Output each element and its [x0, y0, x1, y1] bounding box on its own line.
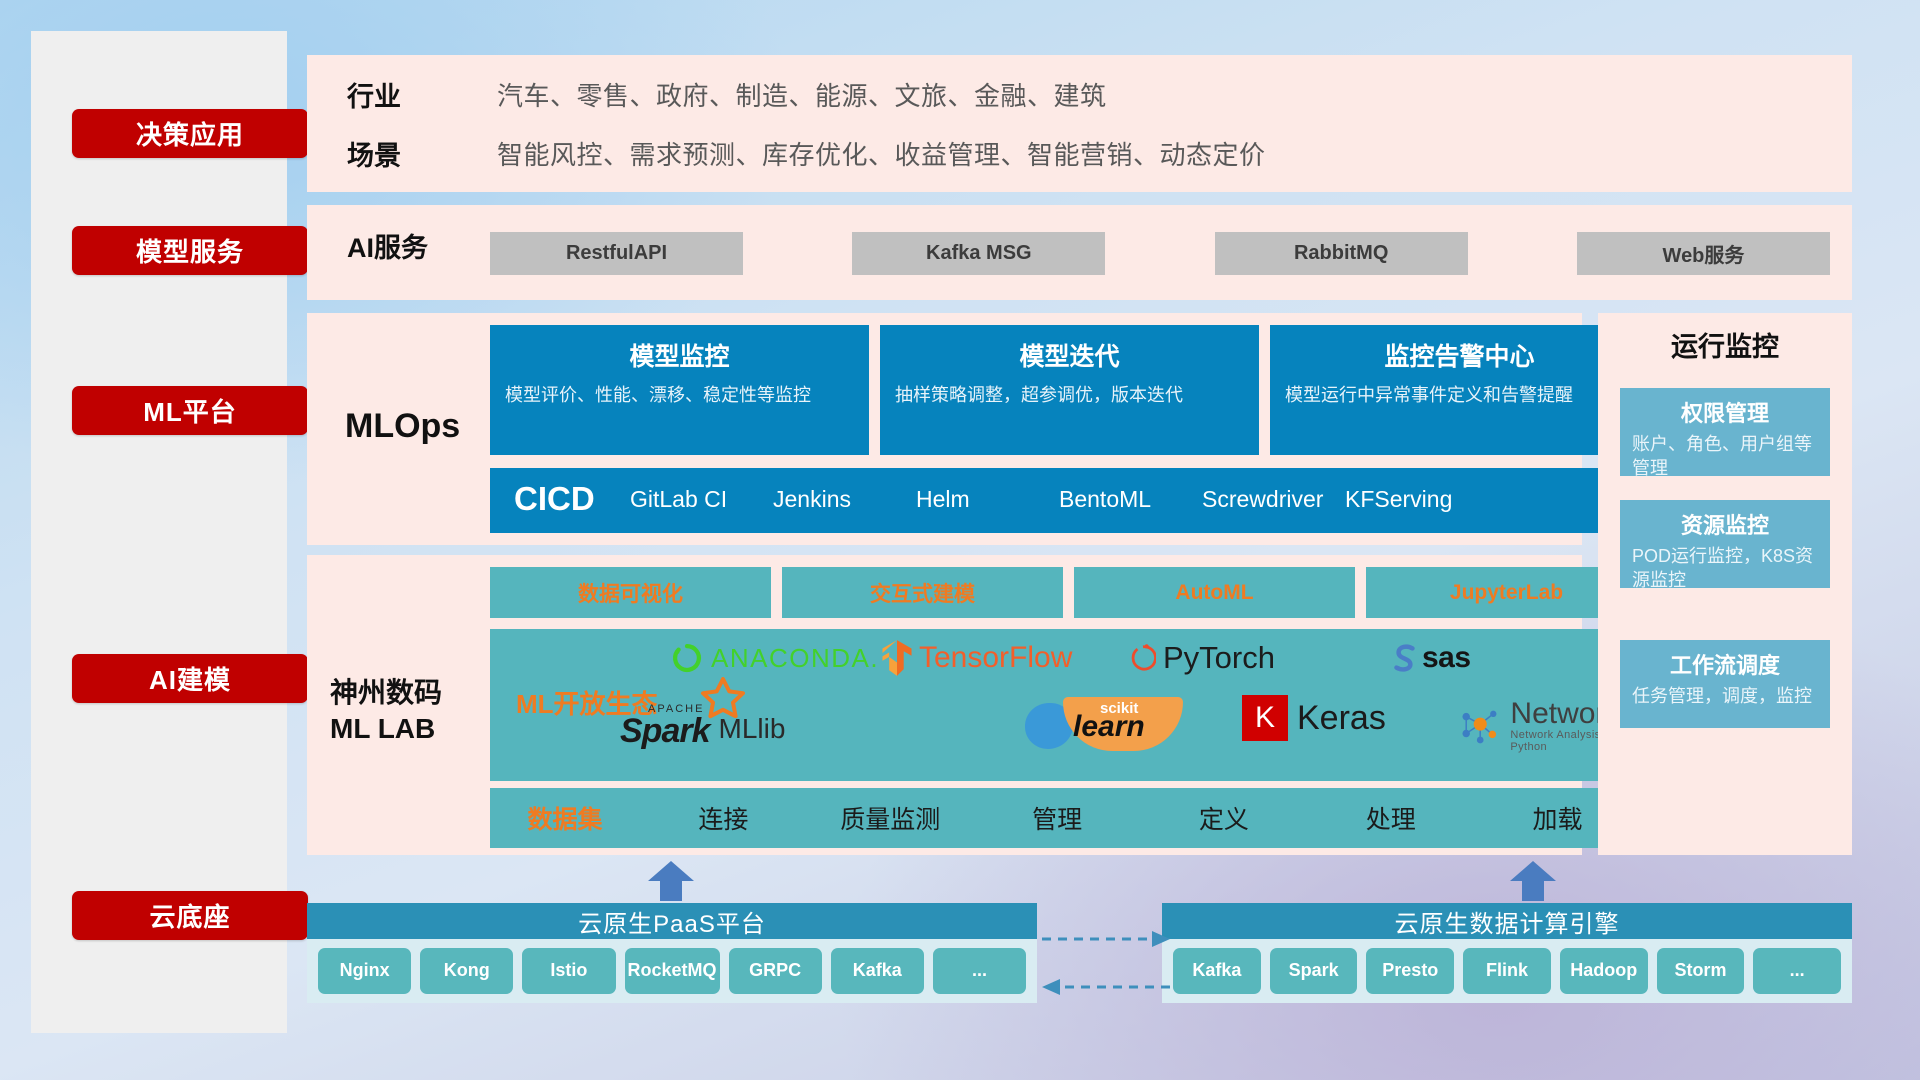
ai-service-label: AI服务: [347, 232, 428, 266]
layer-label-cloud-base[interactable]: 云底座: [72, 891, 308, 940]
pytorch-mark-icon: [1130, 642, 1156, 674]
tensorflow-mark-icon: [880, 639, 914, 677]
card-title: 权限管理: [1632, 396, 1818, 428]
ml-lab-chip-automl[interactable]: AutoML: [1074, 567, 1355, 618]
ai-service-chip-list: RestfulAPI Kafka MSG RabbitMQ Web服务: [490, 232, 1830, 275]
architecture-diagram: 决策应用 模型服务 ML平台 AI建模 云底座 行业 汽车、零售、政府、制造、能…: [0, 0, 1920, 1080]
anaconda-wordmark: ANACONDA.: [711, 643, 879, 674]
dataset-item-connect[interactable]: 连接: [640, 800, 807, 836]
engine-chip-spark[interactable]: Spark: [1270, 948, 1358, 994]
dataset-item-manage[interactable]: 管理: [974, 800, 1141, 836]
ml-lab-label: 神州数码 ML LAB: [330, 675, 442, 747]
card-title: 模型迭代: [895, 337, 1244, 373]
ml-lab-label-line1: 神州数码: [330, 675, 442, 711]
cicd-item-kfserving[interactable]: KFServing: [1345, 468, 1488, 513]
anaconda-mark-icon: [670, 641, 704, 675]
card-title: 监控告警中心: [1285, 337, 1634, 373]
mlops-card-model-iteration[interactable]: 模型迭代 抽样策略调整，超参调优，版本迭代: [880, 325, 1259, 455]
ml-lab-label-line2: ML LAB: [330, 711, 442, 747]
cicd-item-bentoml[interactable]: BentoML: [1059, 468, 1202, 513]
mlops-card-alert-center[interactable]: 监控告警中心 模型运行中异常事件定义和告警提醒: [1270, 325, 1649, 455]
paas-chip-kafka[interactable]: Kafka: [831, 948, 924, 994]
cicd-item-helm[interactable]: Helm: [916, 468, 1059, 513]
anaconda-logo: ANACONDA.: [670, 641, 879, 675]
up-arrow-data-engine-icon: [1510, 861, 1556, 901]
ai-service-chip-web[interactable]: Web服务: [1577, 232, 1830, 275]
sas-wordmark: sas: [1422, 641, 1471, 675]
paas-chip-nginx[interactable]: Nginx: [318, 948, 411, 994]
dataset-item-define[interactable]: 定义: [1140, 800, 1307, 836]
cloud-paas-title: 云原生PaaS平台: [307, 903, 1037, 939]
keras-mark-icon: K: [1242, 695, 1288, 741]
spark-star-icon: [698, 677, 748, 719]
cloud-data-engine-chip-list: Kafka Spark Presto Flink Hadoop Storm ..…: [1162, 939, 1852, 1003]
runtime-monitoring-title: 运行监控: [1598, 325, 1852, 364]
industry-label: 行业: [347, 75, 497, 114]
dataset-label: 数据集: [490, 800, 640, 836]
up-arrow-paas-icon: [648, 861, 694, 901]
sas-logo: sas: [1390, 641, 1471, 675]
cicd-item-gitlab-ci[interactable]: GitLab CI: [630, 468, 773, 513]
engine-chip-presto[interactable]: Presto: [1366, 948, 1454, 994]
card-title: 模型监控: [505, 337, 854, 373]
paas-chip-rocketmq[interactable]: RocketMQ: [625, 948, 720, 994]
dataset-item-process[interactable]: 处理: [1307, 800, 1474, 836]
scenario-label: 场景: [347, 134, 497, 173]
decision-application-panel: 行业 汽车、零售、政府、制造、能源、文旅、金融、建筑 场景 智能风控、需求预测、…: [307, 55, 1852, 192]
scikit-learn-logo: scikit learn: [1025, 697, 1225, 753]
cicd-item-screwdriver[interactable]: Screwdriver: [1202, 468, 1345, 513]
dataset-item-quality[interactable]: 质量监测: [807, 800, 974, 836]
layer-label-decision[interactable]: 决策应用: [72, 109, 308, 158]
layer-label-model-service[interactable]: 模型服务: [72, 226, 308, 275]
monitoring-card-workflow[interactable]: 工作流调度 任务管理，调度，监控: [1620, 640, 1830, 728]
mlops-card-model-monitoring[interactable]: 模型监控 模型评价、性能、漂移、稳定性等监控: [490, 325, 869, 455]
sas-mark-icon: [1390, 642, 1420, 674]
card-desc: 模型评价、性能、漂移、稳定性等监控: [505, 383, 854, 409]
paas-chip-istio[interactable]: Istio: [522, 948, 615, 994]
networkx-mark-icon: [1455, 704, 1505, 748]
card-title: 工作流调度: [1632, 648, 1818, 680]
ml-lab-chip-interactive-modeling[interactable]: 交互式建模: [782, 567, 1063, 618]
card-desc: 模型运行中异常事件定义和告警提醒: [1285, 383, 1634, 409]
keras-logo: K Keras: [1242, 695, 1386, 741]
layer-rail: 决策应用 模型服务 ML平台 AI建模 云底座: [31, 31, 287, 1033]
engine-chip-flink[interactable]: Flink: [1463, 948, 1551, 994]
pytorch-logo: PyTorch: [1130, 640, 1275, 676]
engine-chip-more[interactable]: ...: [1753, 948, 1841, 994]
ai-service-chip-restfulapi[interactable]: RestfulAPI: [490, 232, 743, 275]
monitoring-card-permission[interactable]: 权限管理 账户、角色、用户组等管理: [1620, 388, 1830, 476]
cloud-data-engine-title: 云原生数据计算引擎: [1162, 903, 1852, 939]
engine-chip-hadoop[interactable]: Hadoop: [1560, 948, 1648, 994]
layer-label-ai-modeling[interactable]: AI建模: [72, 654, 308, 703]
cloud-paas-chip-list: Nginx Kong Istio RocketMQ GRPC Kafka ...: [307, 939, 1037, 1003]
card-desc: 任务管理，调度，监控: [1632, 685, 1818, 709]
pytorch-wordmark: PyTorch: [1163, 640, 1275, 676]
cloud-paas-box: 云原生PaaS平台 Nginx Kong Istio RocketMQ GRPC…: [307, 903, 1037, 1003]
ml-lab-chip-list: 数据可视化 交互式建模 AutoML JupyterLab: [490, 567, 1647, 618]
paas-chip-kong[interactable]: Kong: [420, 948, 513, 994]
cicd-bar: CICD GitLab CI Jenkins Helm BentoML Scre…: [490, 468, 1641, 533]
ai-service-chip-rabbitmq[interactable]: RabbitMQ: [1215, 232, 1468, 275]
mlops-label: MLOps: [345, 405, 460, 448]
mlops-card-list: 模型监控 模型评价、性能、漂移、稳定性等监控 模型迭代 抽样策略调整，超参调优，…: [490, 325, 1649, 455]
spark-wordmark: Spark: [620, 715, 710, 747]
dataset-bar: 数据集 连接 质量监测 管理 定义 处理 加载: [490, 788, 1641, 848]
keras-wordmark: Keras: [1297, 699, 1386, 738]
cloud-bidirectional-connector: [1040, 925, 1170, 1005]
ai-service-chip-kafka-msg[interactable]: Kafka MSG: [852, 232, 1105, 275]
card-desc: 账户、角色、用户组等管理: [1632, 433, 1818, 481]
industry-value: 汽车、零售、政府、制造、能源、文旅、金融、建筑: [497, 76, 1266, 113]
ml-ecosystem-panel: ML开放生态 ANACONDA. TensorFlow: [490, 629, 1641, 781]
paas-chip-more[interactable]: ...: [933, 948, 1026, 994]
layer-label-ml-platform[interactable]: ML平台: [72, 386, 308, 435]
engine-chip-kafka[interactable]: Kafka: [1173, 948, 1261, 994]
cicd-item-jenkins[interactable]: Jenkins: [773, 468, 916, 513]
monitoring-card-resource[interactable]: 资源监控 POD运行监控，K8S资源监控: [1620, 500, 1830, 588]
learn-text: learn: [1073, 710, 1145, 744]
spark-mllib-logo: APACHE Spark MLlib: [620, 703, 785, 747]
tensorflow-logo: TensorFlow: [880, 639, 1072, 677]
scenario-value: 智能风控、需求预测、库存优化、收益管理、智能营销、动态定价: [497, 135, 1266, 172]
card-desc: POD运行监控，K8S资源监控: [1632, 545, 1818, 593]
paas-chip-grpc[interactable]: GRPC: [729, 948, 822, 994]
cloud-data-engine-box: 云原生数据计算引擎 Kafka Spark Presto Flink Hadoo…: [1162, 903, 1852, 1003]
card-title: 资源监控: [1632, 508, 1818, 540]
cicd-label: CICD: [490, 468, 630, 518]
engine-chip-storm[interactable]: Storm: [1657, 948, 1745, 994]
card-desc: 抽样策略调整，超参调优，版本迭代: [895, 383, 1244, 409]
ml-lab-chip-data-visualization[interactable]: 数据可视化: [490, 567, 771, 618]
tensorflow-wordmark: TensorFlow: [919, 641, 1072, 675]
